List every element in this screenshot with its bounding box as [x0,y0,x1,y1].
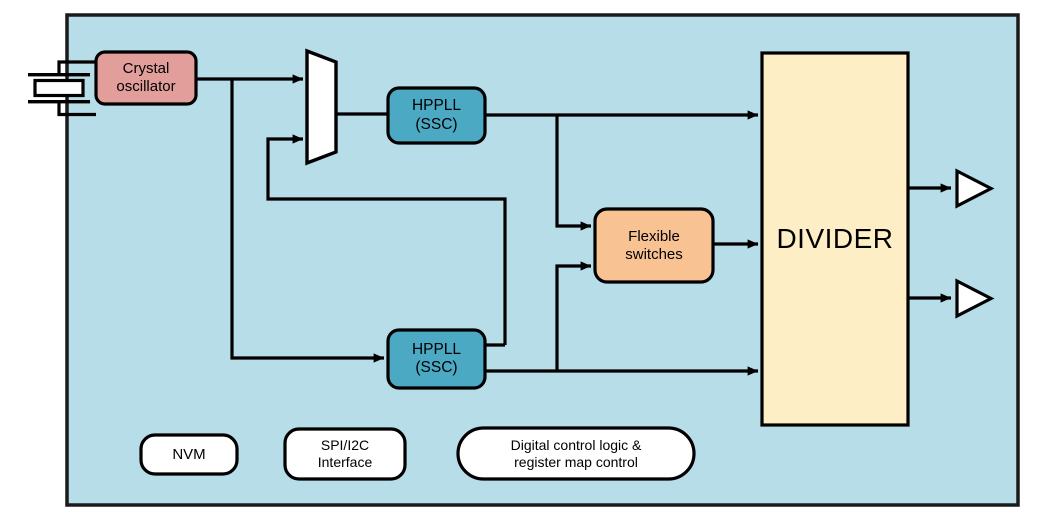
block-flexible-switches[interactable] [595,209,713,282]
block-hppll-top[interactable] [388,88,485,143]
diagram-svg [0,0,1040,522]
block-mux[interactable] [307,51,336,163]
block-crystal-oscillator[interactable] [96,52,196,104]
block-divider[interactable] [762,53,908,425]
block-digital-control-logic[interactable] [458,428,694,479]
block-hppll-bottom[interactable] [388,330,485,388]
block-nvm[interactable] [141,435,237,474]
block-spi-i2c-interface[interactable] [285,429,405,479]
block-diagram-canvas: Crystal oscillator HPPLL (SSC) HPPLL (SS… [0,0,1040,522]
